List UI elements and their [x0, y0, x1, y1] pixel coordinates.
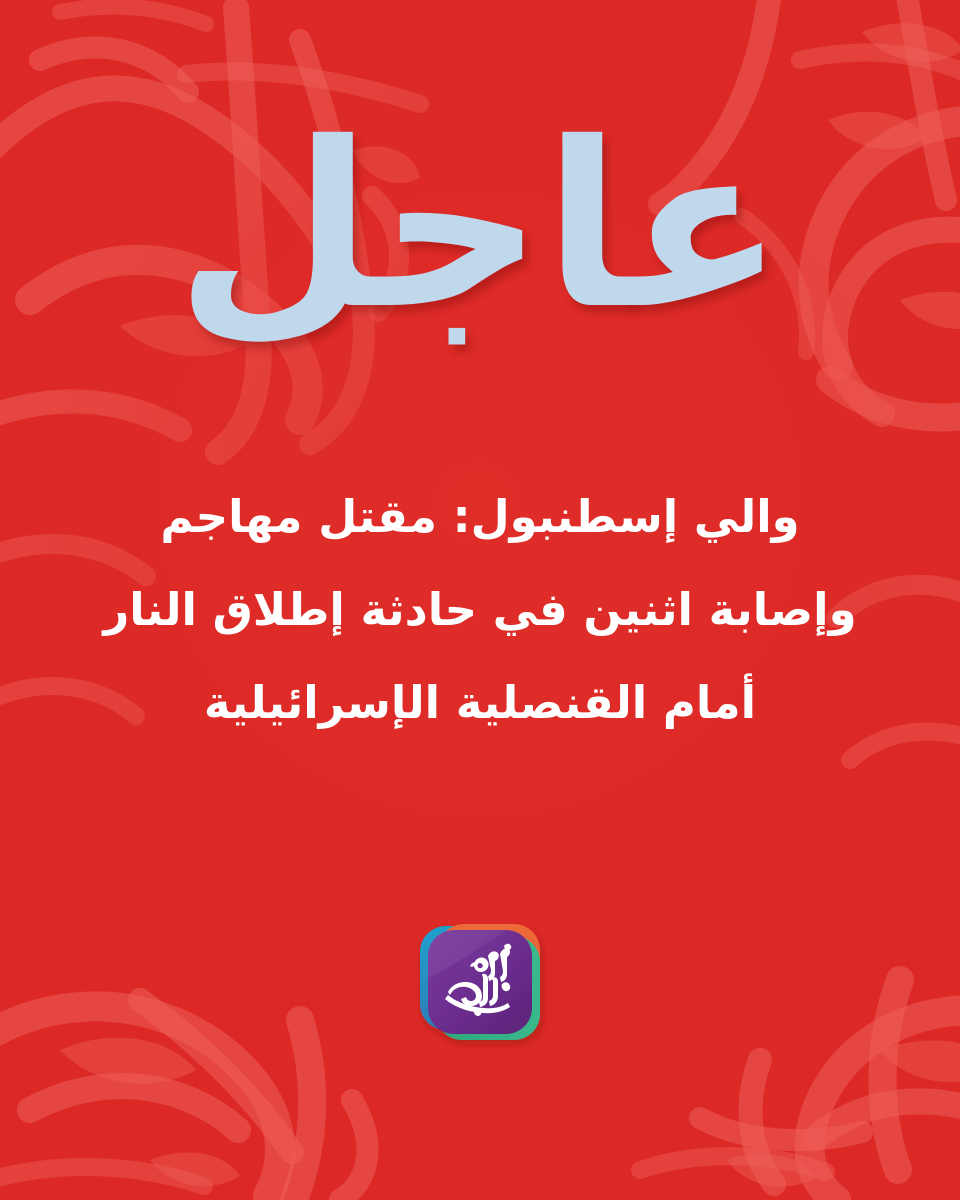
breaking-headline: عاجل [175, 112, 784, 340]
news-body-line-3: أمام القنصلية الإسرائيلية [70, 656, 890, 749]
logo-container [0, 916, 960, 1048]
breaking-news-card: .o { fill: none; stroke: #EE5F57; stroke… [0, 0, 960, 1200]
news-body-line-1: والي إسطنبول: مقتل مهاجم [70, 470, 890, 563]
halab-today-logo [414, 916, 546, 1048]
news-body-line-2: وإصابة اثنين في حادثة إطلاق النار [70, 563, 890, 656]
headline-container: عاجل [0, 96, 960, 356]
news-body: والي إسطنبول: مقتل مهاجم وإصابة اثنين في… [70, 470, 890, 749]
